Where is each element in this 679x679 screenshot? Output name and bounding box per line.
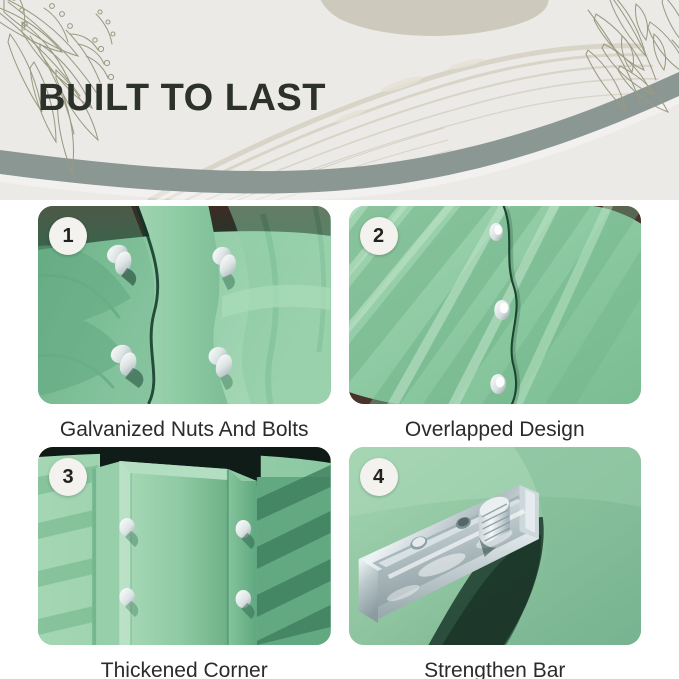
- header-banner: BUILT TO LAST: [0, 0, 679, 200]
- feature-photo-strengthen-bar[interactable]: 4: [349, 447, 642, 645]
- feature-badge-3: 3: [49, 458, 87, 496]
- feature-badge-1: 1: [49, 217, 87, 255]
- feature-photo-thickened-corner[interactable]: 3: [38, 447, 331, 645]
- feature-caption-3: Thickened Corner: [101, 659, 268, 679]
- infographic-root: BUILT TO LAST: [0, 0, 679, 679]
- feature-badge-4: 4: [360, 458, 398, 496]
- feature-photo-galvanized-nuts-and-bolts[interactable]: 1: [38, 206, 331, 404]
- feature-photo-overlapped-design[interactable]: 2: [349, 206, 642, 404]
- page-title: BUILT TO LAST: [38, 79, 326, 117]
- feature-grid: 1 Galvanized Nuts And Bolts: [0, 200, 679, 679]
- feature-caption-1: Galvanized Nuts And Bolts: [60, 418, 309, 441]
- feature-caption-4: Strengthen Bar: [424, 659, 565, 679]
- feature-caption-2: Overlapped Design: [405, 418, 585, 441]
- feature-cell-2: 2 Overlapped Design: [349, 206, 642, 441]
- feature-cell-1: 1 Galvanized Nuts And Bolts: [38, 206, 331, 441]
- feature-badge-2: 2: [360, 217, 398, 255]
- feature-cell-4: 4 Strengthen Bar: [349, 447, 642, 679]
- feature-cell-3: 3 Thickened Corner: [38, 447, 331, 679]
